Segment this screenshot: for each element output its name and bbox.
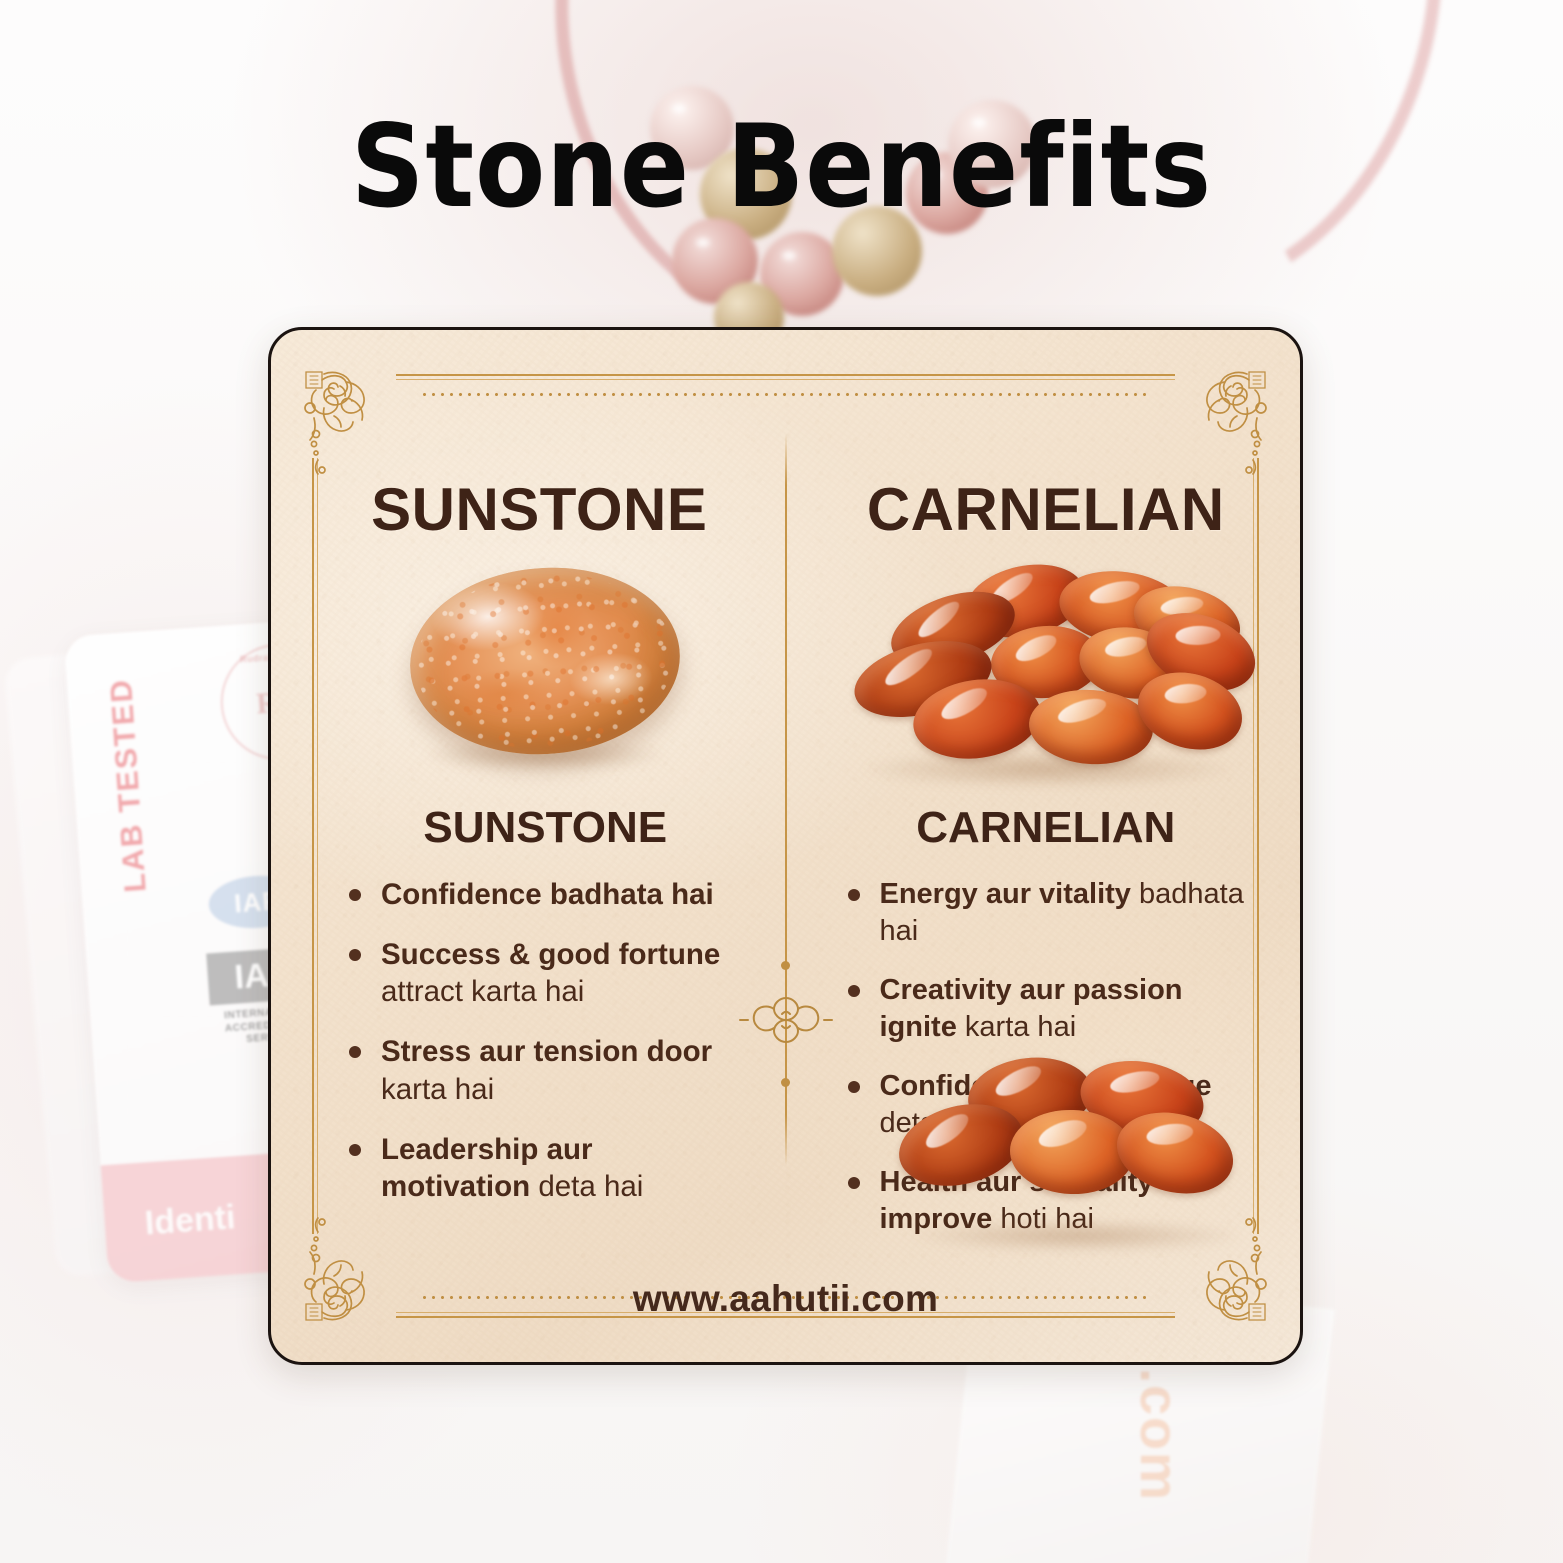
benefit-item: Creativity aur passion ignite karta hai xyxy=(842,972,1251,1045)
stone-subheading-carnelian: CARNELIAN xyxy=(842,806,1251,850)
sunstone-gem xyxy=(404,559,686,763)
benefit-bold: Energy aur vitality xyxy=(880,878,1131,910)
benefit-rest: karta hai xyxy=(381,1073,494,1106)
website-url: www.aahutii.com xyxy=(271,1278,1300,1320)
benefit-item: Energy aur vitality badhata hai xyxy=(842,876,1251,949)
carnelian-photo-bottom xyxy=(894,1058,1260,1254)
carnelian-gem-cluster xyxy=(847,558,1245,794)
benefit-item: Success & good fortune attract karta hai xyxy=(343,936,748,1010)
benefit-rest: attract karta hai xyxy=(381,975,584,1008)
carnelian-photo xyxy=(842,562,1251,798)
benefit-item: Confidence badhata hai xyxy=(343,876,748,913)
benefit-bold: Confidence badhata hai xyxy=(381,878,714,911)
lab-tested-label: LAB TESTED xyxy=(103,677,154,894)
sunstone-photo xyxy=(343,562,748,798)
stone-subheading-sunstone: SUNSTONE xyxy=(343,806,748,850)
benefit-item: Stress aur tension door karta hai xyxy=(343,1033,748,1107)
background-watermark: .com xyxy=(1128,1368,1190,1502)
page-title: Stone Benefits xyxy=(0,101,1563,234)
benefit-list-sunstone: Confidence badhata hai Success & good fo… xyxy=(343,876,748,1205)
benefits-card: SUNSTONE SUNSTONE Confidence badhata hai… xyxy=(268,327,1303,1365)
benefit-rest: karta hai xyxy=(965,1011,1076,1043)
stone-heading-sunstone: SUNSTONE xyxy=(343,480,736,540)
stone-heading-carnelian: CARNELIAN xyxy=(842,480,1251,540)
benefit-bold: Success & good fortune xyxy=(381,938,720,971)
poster-canvas: Rudraksha & G RG LAB TESTED IAF IAS INTE… xyxy=(0,0,1563,1563)
benefit-bold: Stress aur tension door xyxy=(381,1035,712,1068)
benefit-item: Leadership aur motivation deta hai xyxy=(343,1131,748,1205)
certificate-band-text: Identi xyxy=(144,1198,237,1243)
column-sunstone: SUNSTONE SUNSTONE Confidence badhata hai… xyxy=(271,330,786,1362)
benefit-rest: deta hai xyxy=(538,1170,643,1203)
